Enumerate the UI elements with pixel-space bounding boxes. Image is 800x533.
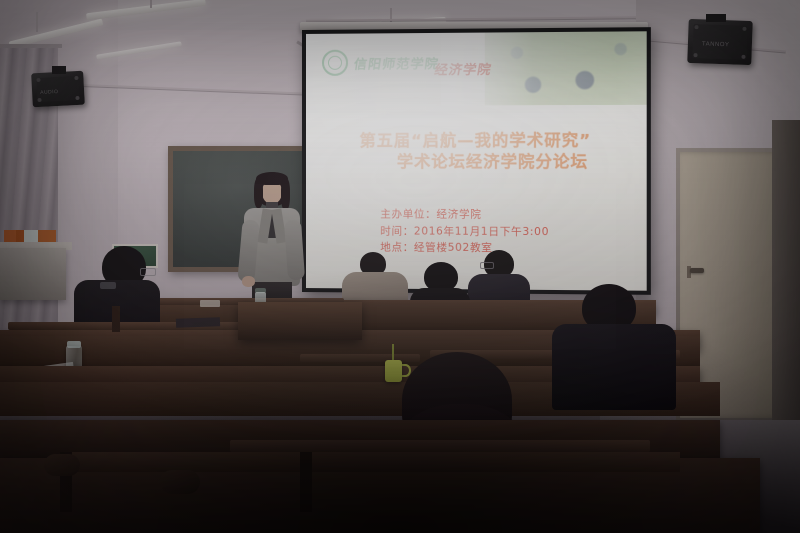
bench-back-row-5 [60, 452, 680, 472]
collar-icon [100, 282, 116, 289]
glasses-icon [480, 262, 494, 269]
presenter-arm-right [284, 219, 305, 280]
slide-title-line-2: 学术论坛经济学院分论坛 [306, 151, 647, 173]
door-handle-icon[interactable] [690, 268, 704, 273]
slide-title: 第五届“启航—我的学术研究” 学术论坛经济学院分论坛 [306, 129, 647, 172]
college-name: 经济学院 [433, 59, 493, 79]
university-name: 信阳师范学院 [353, 53, 441, 73]
slide-banner: 信阳师范学院 经济学院 [306, 31, 647, 106]
detail-time: 时间：2016年11月1日下午3:00 [380, 223, 549, 240]
university-seal-icon [322, 50, 348, 76]
bench-rail-row-4 [230, 440, 650, 452]
seal-inner-ring [328, 56, 342, 70]
bench-armrest-left [44, 454, 80, 476]
speaker-mount-right [706, 14, 726, 22]
presenter-hair-right [281, 178, 290, 210]
bench-armrest-left-2 [160, 470, 200, 494]
right-wall-column [772, 120, 800, 420]
speaker-mount-left [52, 66, 66, 74]
slide-title-line-1: 第五届“启航—我的学术研究” [306, 129, 647, 151]
desk-label-tag [200, 300, 220, 307]
bench-leg-2 [300, 452, 312, 512]
audience-member-front-right [552, 284, 682, 404]
glasses-icon [140, 268, 156, 276]
side-cabinet [0, 248, 66, 300]
podium-desk [238, 302, 362, 340]
audience-torso [552, 324, 676, 410]
bench-bracket [112, 306, 120, 332]
light-hanger-1 [36, 12, 38, 32]
university-logo-block: 信阳师范学院 [322, 49, 439, 76]
light-hanger-2 [150, 0, 152, 8]
wall-speaker-left: AUDIO [31, 71, 85, 108]
notebook-on-desk [176, 317, 220, 328]
classroom-photo: AUDIO TANNOY 信阳师范学院 [0, 0, 800, 533]
detail-organizer: 主办单位：经济学院 [380, 206, 549, 223]
presenter-hand-left [242, 276, 255, 287]
wall-speaker-right: TANNOY [687, 19, 752, 65]
presenter-hair-left [254, 178, 263, 208]
